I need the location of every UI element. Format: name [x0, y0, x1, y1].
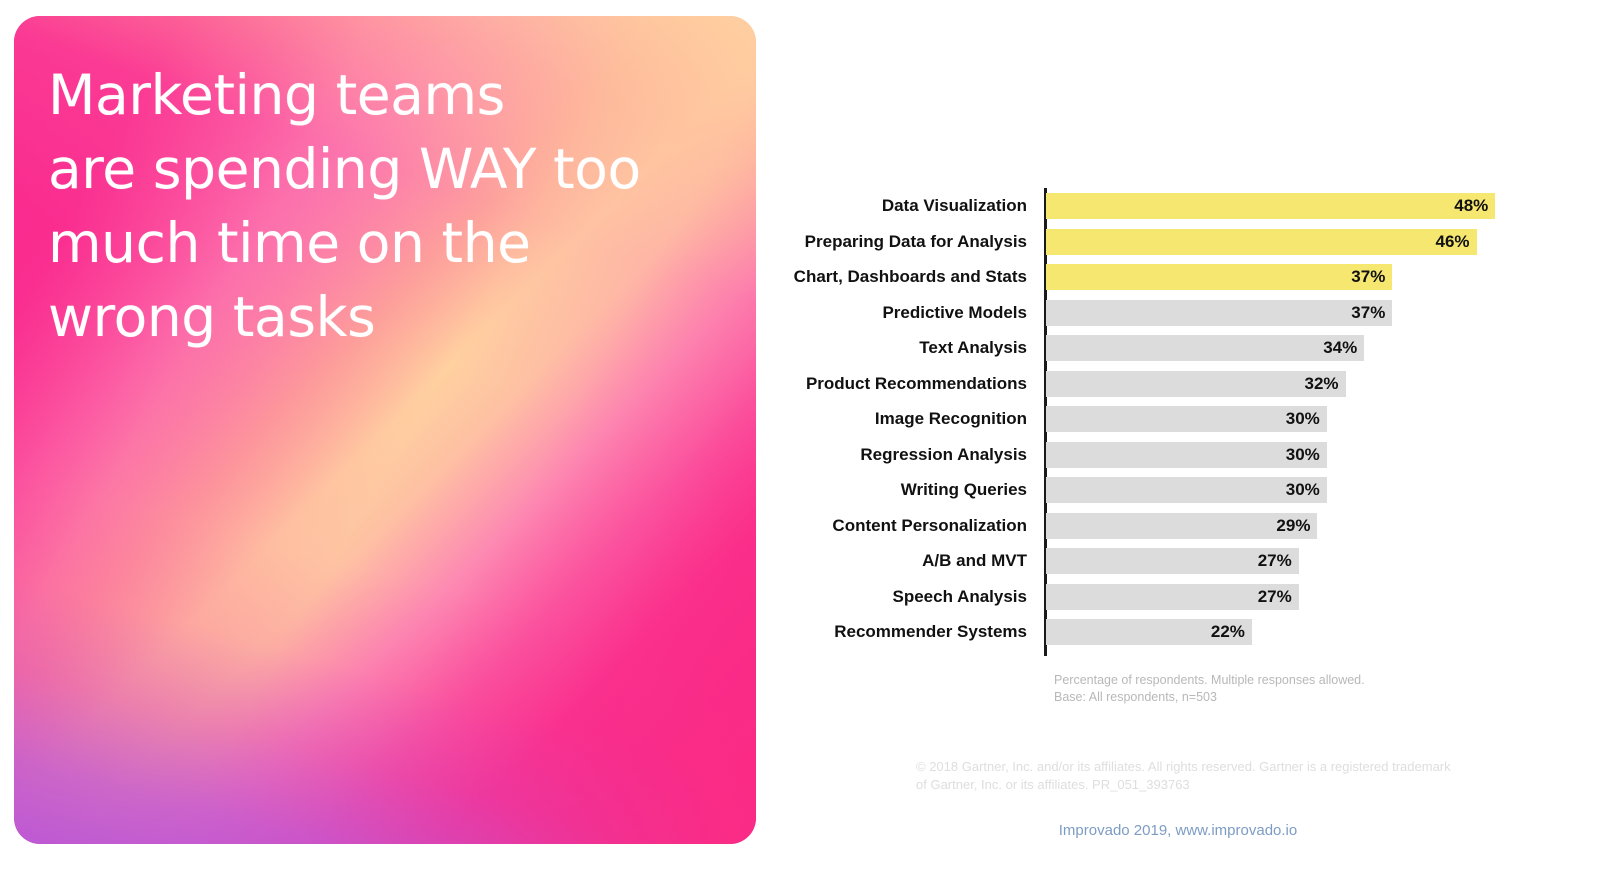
bar-row: Text Analysis34%	[756, 335, 1600, 361]
bar-track: 32%	[1046, 371, 1346, 397]
bar-value-label: 30%	[1046, 477, 1327, 503]
bar-category-label: Preparing Data for Analysis	[707, 229, 1027, 255]
bar-row: Content Personalization29%	[756, 513, 1600, 539]
bar-category-label: Predictive Models	[707, 300, 1027, 326]
bar-category-label: Recommender Systems	[707, 619, 1027, 645]
bar-value-label: 30%	[1046, 442, 1327, 468]
bar-category-label: Chart, Dashboards and Stats	[707, 264, 1027, 290]
bar-track: 30%	[1046, 442, 1327, 468]
bar-category-label: Product Recommendations	[707, 371, 1027, 397]
bar-category-label: Image Recognition	[707, 406, 1027, 432]
bar-category-label: Text Analysis	[707, 335, 1027, 361]
hero-headline: Marketing teams are spending WAY too muc…	[48, 58, 738, 354]
improvado-credit-link[interactable]: Improvado 2019, www.improvado.io	[756, 822, 1600, 839]
bar-track: 37%	[1046, 264, 1392, 290]
bar-category-label: A/B and MVT	[707, 548, 1027, 574]
hero-gradient-card: Marketing teams are spending WAY too muc…	[14, 16, 756, 844]
bar-row: Writing Queries30%	[756, 477, 1600, 503]
bar-row: Speech Analysis27%	[756, 584, 1600, 610]
bar-value-label: 22%	[1046, 619, 1252, 645]
chart-panel: Data Visualization48%Preparing Data for …	[756, 0, 1600, 888]
bar-category-label: Content Personalization	[707, 513, 1027, 539]
bar-track: 27%	[1046, 548, 1299, 574]
bar-value-label: 27%	[1046, 584, 1299, 610]
bar-value-label: 46%	[1046, 229, 1477, 255]
bar-row: Data Visualization48%	[756, 193, 1600, 219]
bar-value-label: 27%	[1046, 548, 1299, 574]
bar-row: Predictive Models37%	[756, 300, 1600, 326]
bar-row: Chart, Dashboards and Stats37%	[756, 264, 1600, 290]
bar-row: A/B and MVT27%	[756, 548, 1600, 574]
bar-track: 34%	[1046, 335, 1364, 361]
chart-footnote: Percentage of respondents. Multiple resp…	[1054, 672, 1524, 706]
bar-category-label: Regression Analysis	[707, 442, 1027, 468]
bar-category-label: Data Visualization	[707, 193, 1027, 219]
bar-row: Recommender Systems22%	[756, 619, 1600, 645]
bar-row: Image Recognition30%	[756, 406, 1600, 432]
gartner-copyright-text: © 2018 Gartner, Inc. and/or its affiliat…	[916, 758, 1516, 794]
bar-row: Regression Analysis30%	[756, 442, 1600, 468]
bar-track: 48%	[1046, 193, 1495, 219]
bar-track: 27%	[1046, 584, 1299, 610]
bar-value-label: 48%	[1046, 193, 1495, 219]
bar-value-label: 37%	[1046, 300, 1392, 326]
bar-track: 46%	[1046, 229, 1477, 255]
bar-value-label: 34%	[1046, 335, 1364, 361]
bar-track: 30%	[1046, 406, 1327, 432]
bar-track: 37%	[1046, 300, 1392, 326]
bar-row: Preparing Data for Analysis46%	[756, 229, 1600, 255]
bar-row: Product Recommendations32%	[756, 371, 1600, 397]
bar-value-label: 30%	[1046, 406, 1327, 432]
bar-category-label: Speech Analysis	[707, 584, 1027, 610]
bar-chart: Data Visualization48%Preparing Data for …	[756, 0, 1600, 500]
bar-track: 29%	[1046, 513, 1317, 539]
bar-category-label: Writing Queries	[707, 477, 1027, 503]
bar-track: 30%	[1046, 477, 1327, 503]
slide-canvas: Marketing teams are spending WAY too muc…	[0, 0, 1600, 888]
bar-value-label: 32%	[1046, 371, 1346, 397]
bar-value-label: 29%	[1046, 513, 1317, 539]
bar-value-label: 37%	[1046, 264, 1392, 290]
bar-track: 22%	[1046, 619, 1252, 645]
